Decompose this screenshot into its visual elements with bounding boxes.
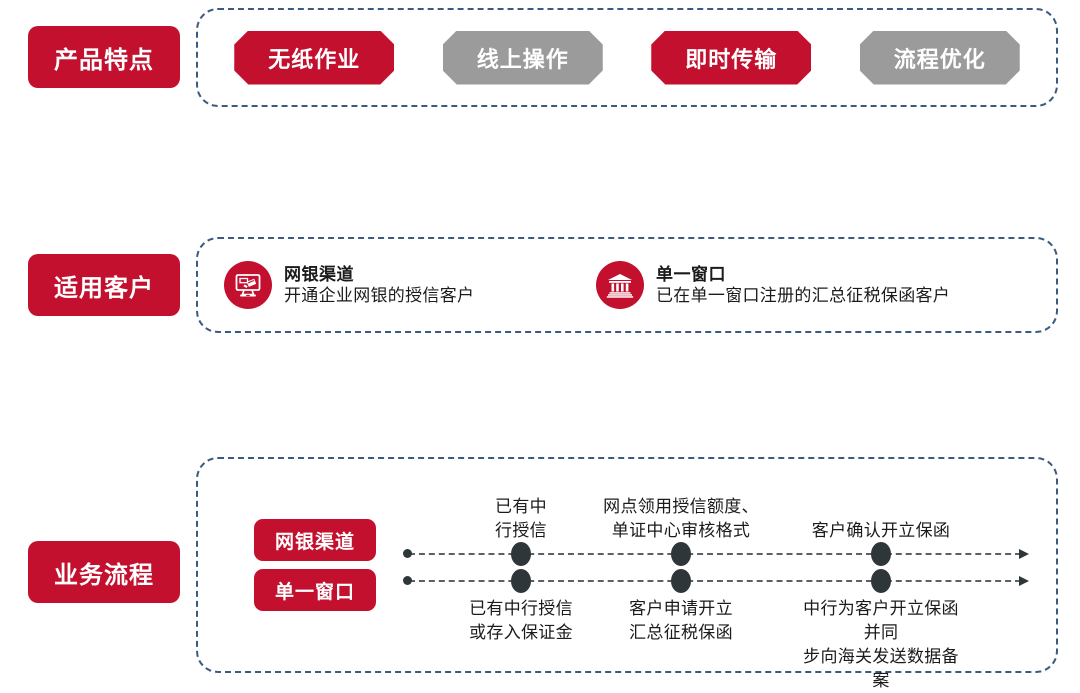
channel-tag-single-window[interactable]: 单一窗口 bbox=[254, 569, 376, 611]
channel-tag-label: 单一窗口 bbox=[275, 577, 355, 604]
section-label-business-process: 业务流程 bbox=[28, 541, 180, 603]
timeline-node[interactable] bbox=[671, 569, 691, 593]
feature-chip[interactable]: 无纸作业 bbox=[234, 31, 394, 85]
timeline-arrow-icon bbox=[1019, 576, 1029, 586]
timeline-step-label: 网点领用授信额度、 单证中心审核格式 bbox=[603, 495, 759, 543]
timeline-node[interactable] bbox=[871, 569, 891, 593]
section-product-features: 产品特点 无纸作业 线上操作 即时传输 流程优化 bbox=[0, 0, 1080, 115]
timeline-node[interactable] bbox=[511, 569, 531, 593]
feature-chip-label: 即时传输 bbox=[685, 42, 777, 74]
timeline-area: 已有中 行授信 网点领用授信额度、 单证中心审核格式 客户确认开立保函 已有中行… bbox=[401, 457, 1041, 673]
section-label-product-features: 产品特点 bbox=[28, 26, 180, 88]
feature-chip-label: 流程优化 bbox=[894, 42, 986, 74]
feature-chip[interactable]: 线上操作 bbox=[443, 31, 603, 85]
timeline-step-label: 客户确认开立保函 bbox=[812, 519, 950, 543]
timeline-node[interactable] bbox=[511, 542, 531, 566]
timeline-node[interactable] bbox=[671, 542, 691, 566]
timeline-arrow-icon bbox=[1019, 549, 1029, 559]
timeline-node[interactable] bbox=[871, 542, 891, 566]
section-applicable-customers: 适用客户 bbox=[0, 115, 1080, 225]
feature-chip[interactable]: 即时传输 bbox=[651, 31, 811, 85]
timeline-step-label: 中行为客户开立保函并同 步向海关发送数据备案 bbox=[801, 597, 961, 693]
feature-chip-label: 无纸作业 bbox=[268, 42, 360, 74]
timeline-track-top bbox=[409, 553, 1021, 555]
timeline-start-dot bbox=[403, 549, 412, 558]
infographic-page: 产品特点 无纸作业 线上操作 即时传输 流程优化 适用客户 bbox=[0, 0, 1080, 459]
timeline-step-label: 已有中行授信 或存入保证金 bbox=[469, 597, 573, 645]
timeline-step-label: 客户申请开立 汇总征税保函 bbox=[629, 597, 733, 645]
feature-chip-label: 线上操作 bbox=[477, 42, 569, 74]
channel-tag-list: 网银渠道 单一窗口 bbox=[254, 519, 376, 619]
timeline-track-bottom bbox=[409, 580, 1021, 582]
section-business-process: 业务流程 网银渠道 单一窗口 bbox=[0, 225, 1080, 459]
process-flow: 网银渠道 单一窗口 bbox=[196, 457, 1058, 673]
channel-tag-online-banking[interactable]: 网银渠道 bbox=[254, 519, 376, 561]
timeline-start-dot bbox=[403, 576, 412, 585]
feature-chip[interactable]: 流程优化 bbox=[860, 31, 1020, 85]
channel-tag-label: 网银渠道 bbox=[275, 527, 355, 554]
timeline-step-label: 已有中 行授信 bbox=[495, 495, 547, 543]
feature-chip-list: 无纸作业 线上操作 即时传输 流程优化 bbox=[196, 8, 1058, 107]
